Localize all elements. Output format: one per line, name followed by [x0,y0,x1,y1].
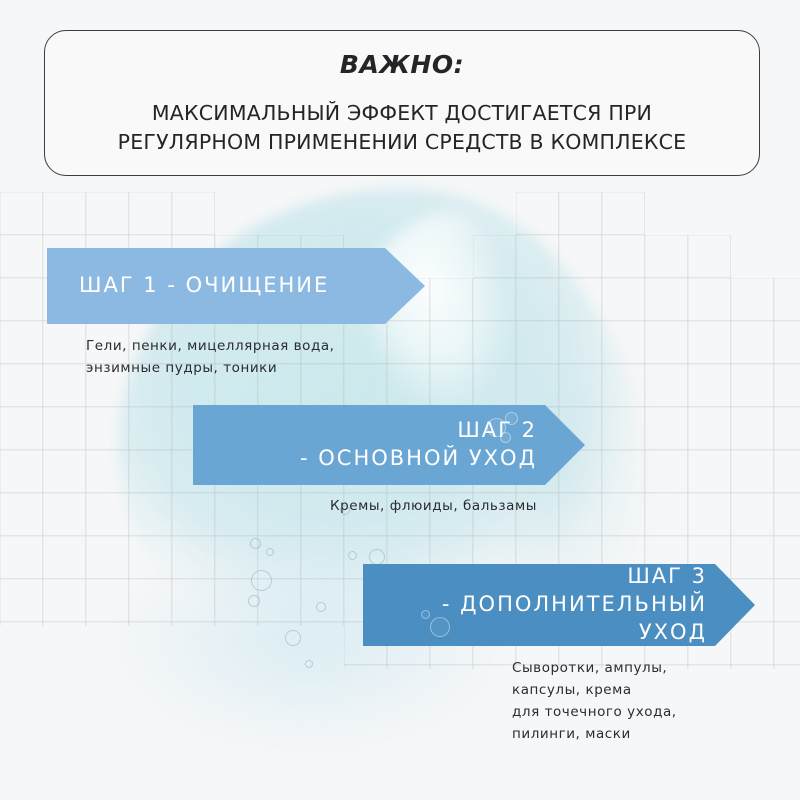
step-1-arrow-banner[interactable]: ШАГ 1 - ОЧИЩЕНИЕ [47,248,425,324]
bubble-icon [421,610,430,619]
bubble-icon [430,617,450,637]
infographic-poster: ВАЖНО: МАКСИМАЛЬНЫЙ ЭФФЕКТ ДОСТИГАЕТСЯ П… [0,0,800,800]
step-1-caption: Гели, пенки, мицеллярная вода, энзимные … [86,336,335,380]
bubble-icon [250,538,261,549]
step-2-banner-label: ШАГ 2 - ОСНОВНОЙ УХОД [193,417,585,473]
bubble-icon [248,595,260,607]
bubble-icon [316,602,326,612]
step-2-caption: Кремы, флюиды, бальзамы [330,496,537,518]
step-2-arrow-banner[interactable]: ШАГ 2 - ОСНОВНОЙ УХОД [193,405,585,485]
bubble-icon [348,551,357,560]
bubble-icon [505,412,518,425]
notice-body: МАКСИМАЛЬНЫЙ ЭФФЕКТ ДОСТИГАЕТСЯ ПРИ РЕГУ… [118,99,687,156]
bubble-icon [266,548,274,556]
bubble-icon [251,570,272,591]
step-3-arrow-banner[interactable]: ШАГ 3 - ДОПОЛНИТЕЛЬНЫЙ УХОД [363,564,755,646]
important-notice-box: ВАЖНО: МАКСИМАЛЬНЫЙ ЭФФЕКТ ДОСТИГАЕТСЯ П… [44,30,760,176]
bubble-icon [285,630,301,646]
step-1-banner-label: ШАГ 1 - ОЧИЩЕНИЕ [47,272,425,300]
notice-title: ВАЖНО: [340,50,464,79]
step-3-caption: Сыворотки, ампулы, капсулы, крема для то… [512,658,677,745]
bubble-icon [305,660,313,668]
bubble-icon [500,432,511,443]
step-3-banner-label: ШАГ 3 - ДОПОЛНИТЕЛЬНЫЙ УХОД [363,563,755,647]
bubble-icon [369,549,385,565]
